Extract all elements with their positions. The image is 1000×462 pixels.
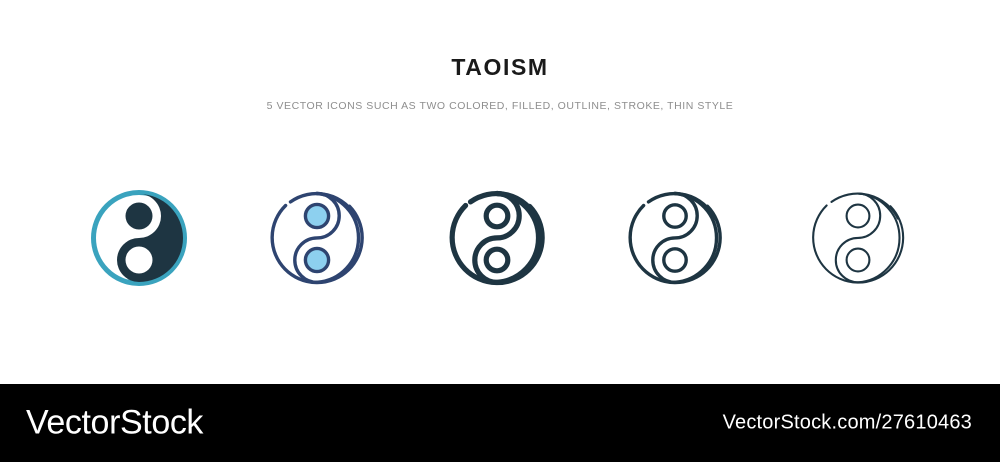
upper-dot bbox=[847, 205, 870, 228]
page-subtitle: 5 VECTOR ICONS SUCH AS TWO COLORED, FILL… bbox=[0, 79, 1000, 112]
upper-dot bbox=[664, 205, 686, 227]
page-header: TAOISM 5 VECTOR ICONS SUCH AS TWO COLORE… bbox=[0, 0, 1000, 112]
s-divider bbox=[653, 194, 697, 283]
upper-dot bbox=[305, 204, 328, 227]
vectorstock-logo[interactable]: VectorStock bbox=[26, 404, 203, 443]
taoism-icon-filled[interactable] bbox=[257, 178, 377, 298]
s-divider bbox=[836, 194, 880, 283]
upper-dot bbox=[486, 205, 508, 227]
taoism-icon-stroke[interactable] bbox=[615, 178, 735, 298]
taoism-icon-two-colored[interactable] bbox=[79, 178, 199, 298]
icon-variant-strip bbox=[0, 178, 1000, 298]
lower-dot bbox=[305, 248, 328, 271]
lower-dot bbox=[126, 247, 153, 274]
lower-dot bbox=[664, 249, 686, 271]
footer-bar: VectorStock VectorStock.com/27610463 bbox=[0, 384, 1000, 462]
yin-yang-icon bbox=[615, 178, 735, 298]
upper-dot bbox=[126, 203, 153, 230]
page-title: TAOISM bbox=[0, 0, 1000, 79]
taoism-icon-outline[interactable] bbox=[437, 178, 557, 298]
taoism-icon-thin[interactable] bbox=[798, 178, 918, 298]
yin-yang-icon bbox=[798, 178, 918, 298]
vectorstock-url[interactable]: VectorStock.com/27610463 bbox=[723, 412, 972, 435]
lower-dot bbox=[486, 249, 508, 271]
yin-yang-icon bbox=[79, 178, 199, 298]
yin-yang-icon bbox=[437, 178, 557, 298]
yin-yang-icon bbox=[257, 178, 377, 298]
lower-dot bbox=[847, 249, 870, 272]
